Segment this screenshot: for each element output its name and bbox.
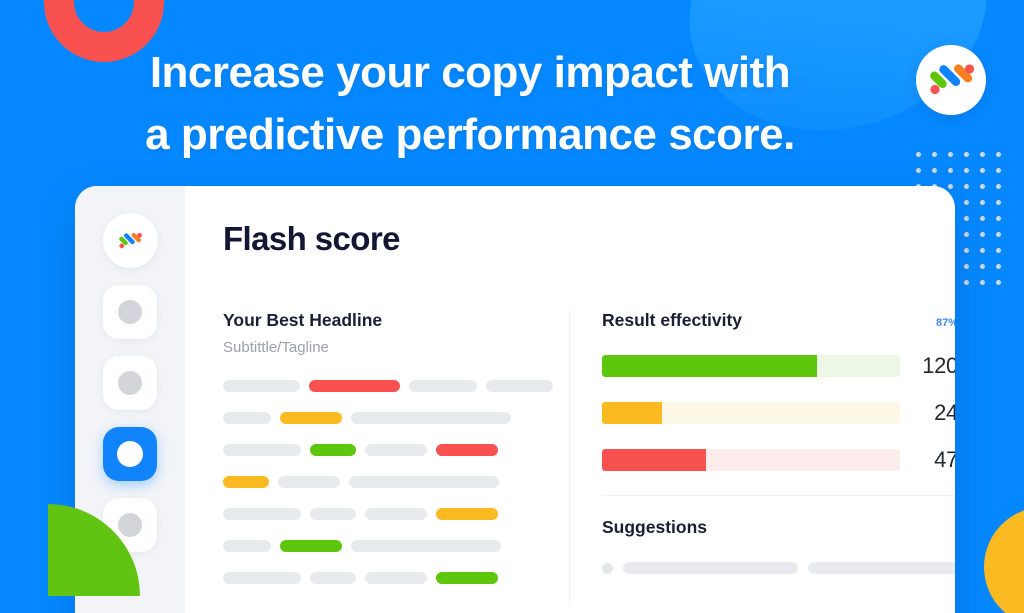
suggestions-title: Suggestions xyxy=(602,517,955,538)
grid-dot-icon xyxy=(964,216,969,221)
grid-dot-icon xyxy=(980,232,985,237)
grid-dot-icon xyxy=(980,152,985,157)
circle-icon xyxy=(117,441,143,467)
grid-dot-icon xyxy=(996,168,1001,173)
app-card: Flash score Your Best Headline Subtittle… xyxy=(75,186,955,613)
percent-badge: 87% xyxy=(936,317,955,329)
grid-dot-icon xyxy=(980,184,985,189)
placeholder-word-gray xyxy=(223,412,271,424)
grid-dot-icon xyxy=(948,168,953,173)
grid-dot-icon xyxy=(980,280,985,285)
yellow-circle-decoration xyxy=(984,507,1024,613)
horizontal-divider xyxy=(602,495,955,496)
grid-dot-icon xyxy=(964,168,969,173)
panels-row: Your Best Headline Subtittle/Tagline Res… xyxy=(223,310,955,604)
grid-dot-icon xyxy=(964,200,969,205)
placeholder-row xyxy=(223,380,553,392)
placeholder-word-gray xyxy=(349,476,499,488)
result-bar-track xyxy=(602,402,900,424)
grid-dot-icon xyxy=(964,264,969,269)
placeholder-row xyxy=(223,540,553,552)
placeholder-word-gray xyxy=(223,444,301,456)
placeholder-word-green xyxy=(310,444,356,456)
placeholder-word-gray xyxy=(365,444,427,456)
sidebar-nav-item-2[interactable] xyxy=(103,356,157,410)
placeholder-word-gray xyxy=(409,380,476,392)
placeholder-word-green xyxy=(436,572,498,584)
brand-logo-badge xyxy=(916,45,986,115)
placeholder-word-gray xyxy=(310,572,356,584)
bullet-dot-icon xyxy=(602,563,613,574)
vertical-divider xyxy=(569,310,570,604)
headline-preview-title: Your Best Headline xyxy=(223,310,553,331)
results-bar-chart: 1202447 xyxy=(602,353,955,473)
placeholder-word-gray xyxy=(365,508,427,520)
placeholder-word-gray xyxy=(486,380,553,392)
placeholder-word-gray xyxy=(278,476,340,488)
grid-dot-icon xyxy=(980,200,985,205)
hero-headline-line1: Increase your copy impact with xyxy=(0,42,940,104)
suggestion-placeholder-bar xyxy=(623,562,798,574)
result-bar-fill xyxy=(602,449,706,471)
placeholder-word-red xyxy=(309,380,400,392)
grid-dot-icon xyxy=(916,168,921,173)
result-bar-value: 47 xyxy=(900,447,955,473)
result-bar-row: 24 xyxy=(602,400,955,426)
placeholder-word-gray xyxy=(223,540,271,552)
placeholder-row xyxy=(223,508,553,520)
grid-dot-icon xyxy=(996,152,1001,157)
placeholder-word-yellow xyxy=(436,508,498,520)
grid-dot-icon xyxy=(996,264,1001,269)
placeholder-row xyxy=(223,476,553,488)
placeholder-text-rows xyxy=(223,380,553,584)
grid-dot-icon xyxy=(964,152,969,157)
headline-preview-panel: Your Best Headline Subtittle/Tagline xyxy=(223,310,553,604)
grid-dot-icon xyxy=(948,152,953,157)
result-bar-fill xyxy=(602,355,817,377)
result-bar-track xyxy=(602,355,900,377)
app-content: Flash score Your Best Headline Subtittle… xyxy=(185,186,955,613)
placeholder-word-yellow xyxy=(280,412,342,424)
results-header: Result effectivity 87% xyxy=(602,310,955,331)
placeholder-word-gray xyxy=(310,508,356,520)
results-panel: Result effectivity 87% 1202447 Suggestio… xyxy=(602,310,955,604)
placeholder-word-yellow xyxy=(223,476,269,488)
grid-dot-icon xyxy=(996,232,1001,237)
flash-score-logo-icon xyxy=(916,45,986,115)
placeholder-row xyxy=(223,572,553,584)
placeholder-row xyxy=(223,444,553,456)
result-bar-fill xyxy=(602,402,662,424)
grid-dot-icon xyxy=(996,184,1001,189)
grid-dot-icon xyxy=(964,248,969,253)
promo-banner: Increase your copy impact with a predict… xyxy=(0,0,1024,613)
placeholder-word-gray xyxy=(223,380,300,392)
sidebar-nav-item-3[interactable] xyxy=(103,427,157,481)
grid-dot-icon xyxy=(996,248,1001,253)
result-bar-row: 47 xyxy=(602,447,955,473)
result-bar-track xyxy=(602,449,900,471)
suggestion-placeholder-bar xyxy=(808,562,955,574)
headline-preview-tagline: Subtittle/Tagline xyxy=(223,339,553,356)
sidebar-nav-item-1[interactable] xyxy=(103,285,157,339)
grid-dot-icon xyxy=(980,264,985,269)
grid-dot-icon xyxy=(932,168,937,173)
grid-dot-icon xyxy=(964,184,969,189)
placeholder-word-gray xyxy=(351,540,501,552)
grid-dot-icon xyxy=(996,200,1001,205)
grid-dot-icon xyxy=(964,232,969,237)
sidebar-logo-icon xyxy=(112,223,148,259)
placeholder-word-green xyxy=(280,540,342,552)
sidebar-logo[interactable] xyxy=(103,213,158,268)
circle-icon xyxy=(118,513,142,537)
results-title: Result effectivity xyxy=(602,310,742,331)
grid-dot-icon xyxy=(980,216,985,221)
page-title: Flash score xyxy=(223,220,955,258)
grid-dot-icon xyxy=(980,248,985,253)
result-bar-value: 120 xyxy=(900,353,955,379)
grid-dot-icon xyxy=(996,216,1001,221)
grid-dot-icon xyxy=(980,168,985,173)
placeholder-word-gray xyxy=(223,572,301,584)
suggestion-item[interactable] xyxy=(602,562,955,574)
circle-icon xyxy=(118,371,142,395)
hero-headline-line2: a predictive performance score. xyxy=(0,104,940,166)
placeholder-word-gray xyxy=(351,412,511,424)
placeholder-word-red xyxy=(436,444,498,456)
hero-headline: Increase your copy impact with a predict… xyxy=(0,42,940,167)
grid-dot-icon xyxy=(964,280,969,285)
grid-dot-icon xyxy=(996,280,1001,285)
result-bar-value: 24 xyxy=(900,400,955,426)
placeholder-word-gray xyxy=(365,572,427,584)
circle-icon xyxy=(118,300,142,324)
placeholder-word-gray xyxy=(223,508,301,520)
placeholder-row xyxy=(223,412,553,424)
sidebar-nav-list xyxy=(103,285,157,552)
result-bar-row: 120 xyxy=(602,353,955,379)
